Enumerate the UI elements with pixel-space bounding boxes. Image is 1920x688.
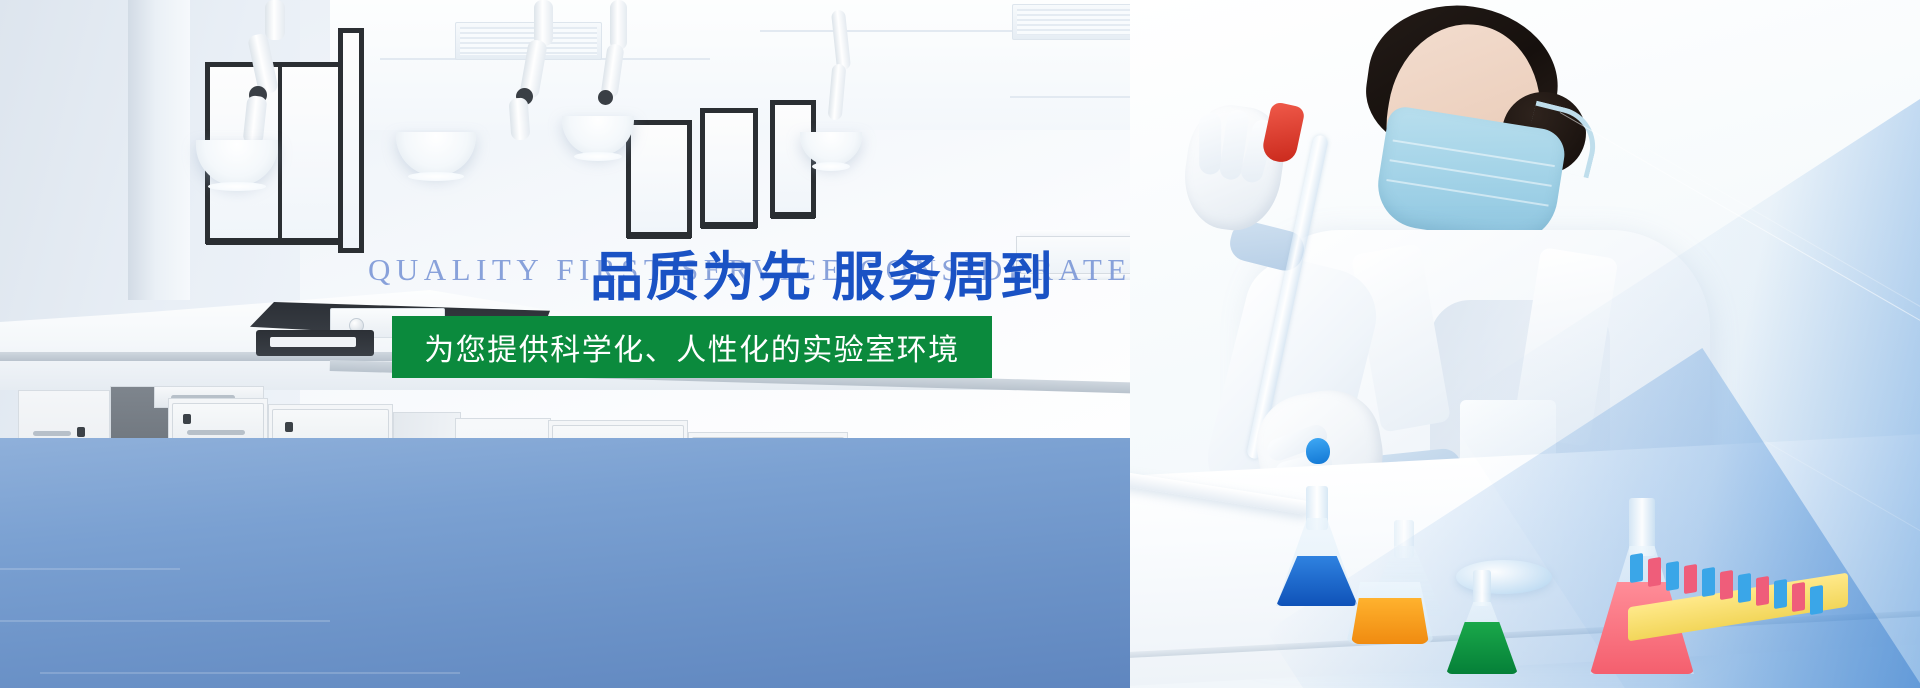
window-sill xyxy=(771,212,815,219)
arm-segment xyxy=(828,63,847,120)
main-headline: 品质为先 服务周到 xyxy=(590,248,1030,307)
pipette-tip xyxy=(1810,585,1823,615)
bench-tray xyxy=(256,330,374,356)
erlenmeyer-flask-green xyxy=(1446,570,1518,674)
flask-liquid xyxy=(1446,622,1518,674)
subtitle-text: 为您提供科学化、人性化的实验室环境 xyxy=(424,325,960,369)
floor-seam xyxy=(0,620,330,622)
drawer-lock xyxy=(285,422,293,432)
erlenmeyer-flask-orange xyxy=(1346,582,1434,644)
arm-segment xyxy=(509,97,531,140)
cabinet-lock xyxy=(77,427,85,437)
pipette-tip-rack xyxy=(1628,554,1848,624)
pipette-tip xyxy=(1648,557,1661,587)
pipette-tip xyxy=(1666,561,1679,591)
arm-joint xyxy=(598,90,613,105)
pipette-tip xyxy=(1756,576,1769,606)
window xyxy=(770,100,816,218)
arm-segment xyxy=(243,95,268,145)
hero-banner: QUALITY FIRST SERVICE CONSIDERATE 品质为先 服… xyxy=(0,0,1920,688)
drawer-lock xyxy=(183,414,191,424)
pipette-tip xyxy=(1792,582,1805,612)
blue-liquid-drop xyxy=(1306,438,1330,464)
fume-extraction-arm xyxy=(235,0,355,160)
pipette-tip xyxy=(1738,573,1751,603)
arm-segment xyxy=(610,0,627,50)
pipette-tip xyxy=(1684,564,1697,594)
pipette-tip xyxy=(1720,570,1733,600)
cabinet-handle xyxy=(33,431,71,436)
support-pillar xyxy=(128,0,190,300)
drawer-handle xyxy=(187,430,245,435)
blue-epoxy-floor xyxy=(0,438,1130,688)
floor-seam xyxy=(40,672,460,674)
flask-neck xyxy=(1473,570,1491,606)
arm-segment xyxy=(534,0,553,46)
window-sill xyxy=(701,222,757,229)
window-sill xyxy=(206,238,352,245)
window-sill xyxy=(627,232,691,239)
mask-pleat xyxy=(1386,179,1548,207)
fume-extraction-arm xyxy=(812,0,892,140)
tray-insert xyxy=(270,337,356,347)
glove-finger xyxy=(1199,112,1221,174)
pipette-tip xyxy=(1630,553,1643,583)
floor-seam xyxy=(0,568,180,570)
arm-segment xyxy=(247,33,279,96)
flask-liquid xyxy=(1351,598,1429,644)
arm-segment xyxy=(265,0,285,40)
arm-segment xyxy=(831,9,851,70)
pipette-tip xyxy=(1774,579,1787,609)
window xyxy=(700,108,758,228)
pipette-tip xyxy=(1702,567,1715,597)
subtitle-banner: 为您提供科学化、人性化的实验室环境 xyxy=(392,316,992,378)
technician-photo xyxy=(1130,0,1920,688)
